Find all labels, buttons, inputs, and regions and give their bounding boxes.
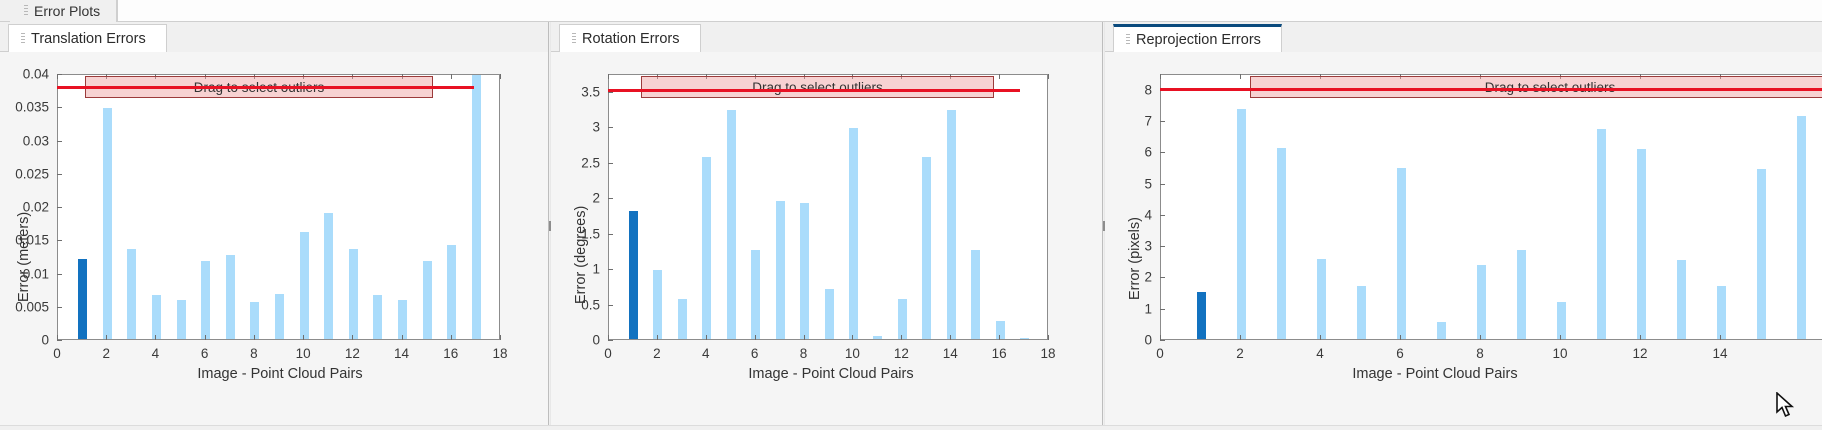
bar[interactable]	[1317, 259, 1326, 339]
x-tick-label: 0	[1156, 346, 1164, 361]
mouse-cursor-icon	[1775, 392, 1797, 418]
y-tick-mark	[608, 340, 613, 341]
bar[interactable]	[1797, 116, 1806, 339]
x-tick-mark	[755, 335, 756, 340]
x-tick-mark	[155, 335, 156, 340]
y-tick-mark	[1160, 152, 1165, 153]
bar[interactable]	[177, 300, 186, 339]
y-tick-label: 0.04	[0, 67, 49, 82]
bar[interactable]	[423, 261, 432, 339]
y-tick-mark	[1160, 121, 1165, 122]
x-tick-mark	[1160, 335, 1161, 340]
bar[interactable]	[1717, 286, 1726, 339]
x-tick-mark	[451, 335, 452, 340]
panel-translation-errors: Translation Errors Error (meters) Image …	[0, 22, 548, 430]
bar[interactable]	[653, 270, 662, 340]
y-tick-label: 2	[551, 191, 600, 206]
x-axis-label: Image - Point Cloud Pairs	[1215, 366, 1655, 382]
panel-3-tabstrip: Reprojection Errors	[1105, 22, 1822, 52]
bar[interactable]	[971, 250, 980, 339]
y-tick-label: 4	[1105, 207, 1152, 222]
bar[interactable]	[1477, 265, 1486, 339]
x-tick-mark	[608, 335, 609, 340]
y-tick-label: 8	[1105, 82, 1152, 97]
chart-reprojection-errors: Error (pixels) Image - Point Cloud Pairs…	[1105, 52, 1822, 430]
panel-1-tabstrip: Translation Errors	[0, 22, 548, 52]
y-tick-label: 3.5	[551, 84, 600, 99]
plot-bars-layer	[609, 75, 1047, 339]
tab-reprojection-errors[interactable]: Reprojection Errors	[1113, 24, 1282, 52]
document-tabstrip: Error Plots	[0, 0, 1822, 22]
y-tick-mark	[608, 127, 613, 128]
x-axis-label: Image - Point Cloud Pairs	[60, 366, 500, 382]
bar[interactable]	[324, 213, 333, 339]
x-tick-mark	[254, 335, 255, 340]
tabstrip-filler	[701, 22, 1102, 52]
document-tab-error-plots[interactable]: Error Plots	[10, 0, 117, 22]
x-tick-mark	[852, 335, 853, 340]
bar[interactable]	[1677, 260, 1686, 339]
y-tick-mark	[57, 107, 62, 108]
threshold-line[interactable]	[608, 89, 1020, 92]
x-tick-label: 16	[992, 346, 1007, 361]
x-tick-label: 12	[1632, 346, 1647, 361]
y-tick-label: 2.5	[551, 155, 600, 170]
plot-bars-layer	[1161, 75, 1822, 339]
threshold-line[interactable]	[1160, 88, 1822, 91]
x-tick-label: 8	[1476, 346, 1484, 361]
y-tick-mark	[57, 207, 62, 208]
bar[interactable]	[800, 203, 809, 339]
x-tick-mark	[657, 335, 658, 340]
x-tick-mark	[1720, 335, 1721, 340]
bar[interactable]	[825, 289, 834, 339]
y-tick-mark	[1160, 277, 1165, 278]
y-tick-mark	[1160, 184, 1165, 185]
bar[interactable]	[996, 321, 1005, 339]
x-tick-mark	[57, 335, 58, 340]
drag-grip-icon[interactable]	[1126, 34, 1130, 46]
x-tick-mark	[106, 335, 107, 340]
horizontal-scrollbar[interactable]	[0, 425, 1822, 430]
bar[interactable]	[373, 295, 382, 339]
y-tick-mark	[1160, 309, 1165, 310]
threshold-line[interactable]	[57, 86, 474, 89]
bar[interactable]	[349, 249, 358, 339]
y-tick-mark	[608, 269, 613, 270]
x-tick-label: 10	[296, 346, 311, 361]
y-tick-label: 5	[1105, 176, 1152, 191]
panel-rotation-errors: Rotation Errors Error (degrees) Image - …	[551, 22, 1102, 430]
y-tick-mark	[1160, 340, 1165, 341]
bar[interactable]	[1277, 148, 1286, 339]
bar[interactable]	[127, 249, 136, 339]
error-plot-panels: Translation Errors Error (meters) Image …	[0, 22, 1822, 430]
x-tick-mark	[1480, 335, 1481, 340]
tab-label: Rotation Errors	[582, 31, 680, 47]
y-tick-label: 0.025	[0, 166, 49, 181]
bar[interactable]	[922, 157, 931, 339]
x-tick-label: 6	[1396, 346, 1404, 361]
bar[interactable]	[78, 259, 87, 339]
x-tick-mark	[999, 335, 1000, 340]
bar[interactable]	[398, 300, 407, 339]
y-tick-mark	[57, 141, 62, 142]
x-tick-label: 18	[492, 346, 507, 361]
x-tick-mark-top	[608, 74, 609, 79]
x-tick-label: 2	[102, 346, 110, 361]
x-tick-mark	[500, 335, 501, 340]
y-axis-label: Error (degrees)	[573, 206, 589, 304]
x-tick-label: 2	[653, 346, 661, 361]
y-tick-label: 0	[0, 333, 49, 348]
plot-bars-layer	[58, 75, 499, 339]
x-tick-label: 14	[943, 346, 958, 361]
bar[interactable]	[103, 108, 112, 339]
x-tick-mark-top	[999, 74, 1000, 79]
x-tick-label: 8	[800, 346, 808, 361]
outlier-selection-band[interactable]: Drag to select outliers	[641, 76, 994, 98]
x-tick-mark	[1400, 335, 1401, 340]
y-tick-label: 6	[1105, 145, 1152, 160]
y-tick-mark	[57, 340, 62, 341]
chart-rotation-errors: Error (degrees) Image - Point Cloud Pair…	[551, 52, 1102, 430]
y-tick-label: 0.015	[0, 233, 49, 248]
y-tick-label: 2	[1105, 270, 1152, 285]
bar[interactable]	[873, 336, 882, 339]
x-tick-mark	[1048, 335, 1049, 340]
x-tick-mark-top	[1048, 74, 1049, 79]
y-tick-mark	[608, 163, 613, 164]
x-tick-mark-top	[451, 74, 452, 79]
panel-reprojection-errors: Reprojection Errors Error (pixels) Image…	[1105, 22, 1822, 430]
bar[interactable]	[201, 261, 210, 339]
bar[interactable]	[776, 201, 785, 339]
x-tick-label: 18	[1040, 346, 1055, 361]
x-tick-mark	[804, 335, 805, 340]
x-tick-label: 8	[250, 346, 258, 361]
y-tick-label: 0.005	[0, 299, 49, 314]
y-axis-label: Error (meters)	[16, 212, 32, 302]
y-tick-mark	[608, 234, 613, 235]
x-tick-mark	[352, 335, 353, 340]
y-tick-label: 0.03	[0, 133, 49, 148]
x-axis-label: Image - Point Cloud Pairs	[611, 366, 1051, 382]
bar[interactable]	[1437, 322, 1446, 339]
bar[interactable]	[1237, 109, 1246, 339]
bar[interactable]	[250, 302, 259, 339]
panel-2-tabstrip: Rotation Errors	[551, 22, 1102, 52]
x-tick-label: 0	[604, 346, 612, 361]
drag-grip-icon[interactable]	[572, 33, 576, 45]
bar[interactable]	[1637, 149, 1646, 339]
x-tick-mark-top	[57, 74, 58, 79]
x-tick-label: 10	[845, 346, 860, 361]
y-tick-mark	[1160, 246, 1165, 247]
bar[interactable]	[447, 245, 456, 339]
bar[interactable]	[472, 75, 481, 339]
y-tick-label: 0	[1105, 333, 1152, 348]
y-tick-label: 0.02	[0, 200, 49, 215]
bar[interactable]	[702, 157, 711, 339]
x-tick-mark	[1640, 335, 1641, 340]
x-tick-label: 6	[201, 346, 209, 361]
bar[interactable]	[1557, 302, 1566, 339]
outlier-band-label: Drag to select outliers	[752, 80, 883, 95]
x-tick-mark-top	[1240, 74, 1241, 79]
x-tick-mark	[303, 335, 304, 340]
bar[interactable]	[629, 211, 638, 339]
y-tick-mark	[57, 307, 62, 308]
x-tick-mark	[402, 335, 403, 340]
x-tick-label: 12	[345, 346, 360, 361]
x-tick-mark	[901, 335, 902, 340]
plot-area[interactable]	[608, 74, 1048, 340]
bar[interactable]	[1357, 286, 1366, 339]
bar[interactable]	[1597, 129, 1606, 339]
y-tick-label: 7	[1105, 113, 1152, 128]
x-tick-label: 2	[1236, 346, 1244, 361]
tab-label: Reprojection Errors	[1136, 32, 1261, 48]
y-tick-mark	[608, 305, 613, 306]
bar[interactable]	[849, 128, 858, 339]
y-tick-label: 3	[551, 120, 600, 135]
y-tick-label: 3	[1105, 239, 1152, 254]
y-tick-mark	[57, 240, 62, 241]
y-axis-label: Error (pixels)	[1127, 217, 1143, 300]
tabstrip-filler	[167, 22, 548, 52]
x-tick-label: 4	[702, 346, 710, 361]
bar[interactable]	[727, 110, 736, 339]
bar[interactable]	[1197, 292, 1206, 339]
bar[interactable]	[751, 250, 760, 339]
y-tick-label: 0.5	[551, 297, 600, 312]
bar[interactable]	[678, 299, 687, 339]
x-tick-label: 16	[443, 346, 458, 361]
x-tick-mark	[1560, 335, 1561, 340]
drag-grip-icon[interactable]	[21, 33, 25, 45]
tab-label: Translation Errors	[31, 31, 146, 47]
bar[interactable]	[275, 294, 284, 339]
tab-translation-errors[interactable]: Translation Errors	[8, 24, 167, 52]
bar[interactable]	[1517, 250, 1526, 339]
y-tick-label: 0.035	[0, 100, 49, 115]
chart-translation-errors: Error (meters) Image - Point Cloud Pairs…	[0, 52, 548, 430]
bar[interactable]	[947, 110, 956, 339]
x-tick-mark	[1320, 335, 1321, 340]
x-tick-label: 6	[751, 346, 759, 361]
x-tick-mark	[205, 335, 206, 340]
x-tick-label: 14	[394, 346, 409, 361]
bar[interactable]	[1020, 338, 1029, 339]
x-tick-mark-top	[1160, 74, 1161, 79]
y-tick-label: 1.5	[551, 226, 600, 241]
bar[interactable]	[152, 295, 161, 339]
tab-rotation-errors[interactable]: Rotation Errors	[559, 24, 701, 52]
x-tick-label: 0	[53, 346, 61, 361]
drag-grip-icon[interactable]	[24, 5, 28, 17]
x-tick-label: 4	[1316, 346, 1324, 361]
x-tick-label: 12	[894, 346, 909, 361]
plot-area[interactable]	[1160, 74, 1822, 340]
y-tick-label: 0.01	[0, 266, 49, 281]
y-tick-label: 1	[1105, 301, 1152, 316]
y-tick-mark	[57, 274, 62, 275]
x-tick-label: 10	[1552, 346, 1567, 361]
y-tick-mark	[1160, 215, 1165, 216]
x-tick-mark	[1240, 335, 1241, 340]
bar[interactable]	[300, 232, 309, 339]
y-tick-label: 0	[551, 333, 600, 348]
x-tick-mark-top	[500, 74, 501, 79]
tabstrip-filler	[1282, 22, 1822, 52]
x-tick-mark	[706, 335, 707, 340]
x-tick-label: 14	[1712, 346, 1727, 361]
x-tick-label: 4	[152, 346, 160, 361]
document-tabstrip-filler	[117, 0, 1822, 22]
bar[interactable]	[226, 255, 235, 339]
plot-area[interactable]	[57, 74, 500, 340]
y-tick-mark	[57, 174, 62, 175]
bar[interactable]	[1757, 169, 1766, 339]
bar[interactable]	[1397, 168, 1406, 339]
y-tick-mark	[608, 198, 613, 199]
document-tab-label: Error Plots	[34, 3, 100, 19]
x-tick-mark	[950, 335, 951, 340]
bar[interactable]	[898, 299, 907, 339]
y-tick-label: 1	[551, 262, 600, 277]
